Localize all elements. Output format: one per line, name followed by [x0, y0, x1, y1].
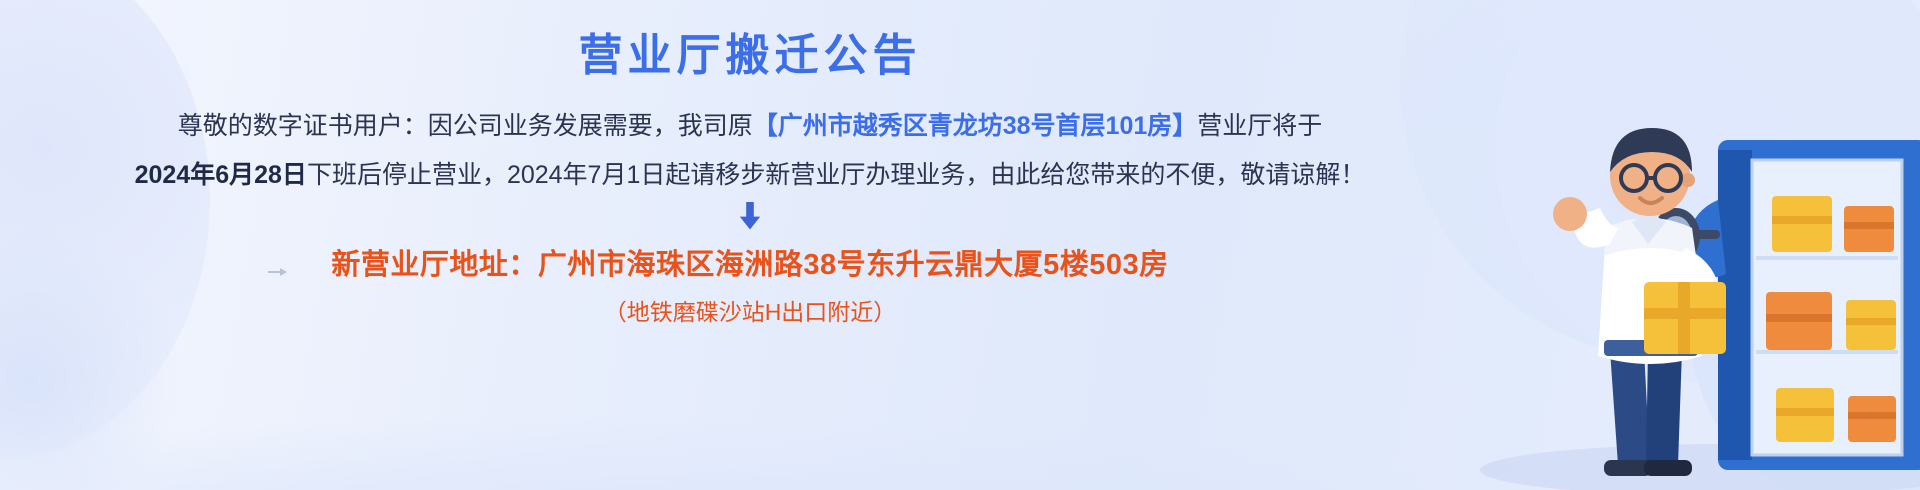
- page-title-text: 营业厅搬迁公告: [579, 31, 922, 80]
- paragraph-line-1: 尊敬的数字证书用户：因公司业务发展需要，我司原【广州市越秀区青龙坊38号首层10…: [0, 108, 1500, 144]
- paragraph-2-rest: 下班后停止营业，2024年7月1日起请移步新营业厅办理业务，由此给您带来的不便，…: [307, 161, 1365, 189]
- arrow-row: [0, 199, 1500, 237]
- new-address-text: 新营业厅地址：广州市海珠区海洲路38号东升云鼎大厦5楼503房: [331, 241, 1168, 283]
- title-container: 营业厅搬迁公告: [0, 0, 1500, 82]
- announcement-content: 营业厅搬迁公告 尊敬的数字证书用户：因公司业务发展需要，我司原【广州市越秀区青龙…: [0, 0, 1500, 490]
- new-address-row: 新营业厅地址：广州市海珠区海洲路38号东升云鼎大厦5楼503房: [0, 241, 1500, 283]
- closing-date: 2024年6月28日: [135, 161, 307, 189]
- paragraph-1-before: 尊敬的数字证书用户：因公司业务发展需要，我司原: [178, 112, 753, 140]
- arrow-right-icon: [268, 263, 288, 285]
- new-address-note: （地铁磨碟沙站H出口附近）: [0, 293, 1500, 327]
- relocation-announcement-banner: 营业厅搬迁公告 尊敬的数字证书用户：因公司业务发展需要，我司原【广州市越秀区青龙…: [0, 0, 1920, 490]
- delivery-truck-moving-illustration: [1400, 0, 1920, 490]
- paragraph-1-after: 营业厅将于: [1197, 112, 1322, 140]
- page-title: 营业厅搬迁公告: [573, 30, 928, 82]
- old-address-highlight: 【广州市越秀区青龙坊38号首层101房】: [753, 112, 1198, 140]
- paragraph-line-2: 2024年6月28日下班后停止营业，2024年7月1日起请移步新营业厅办理业务，…: [0, 157, 1500, 193]
